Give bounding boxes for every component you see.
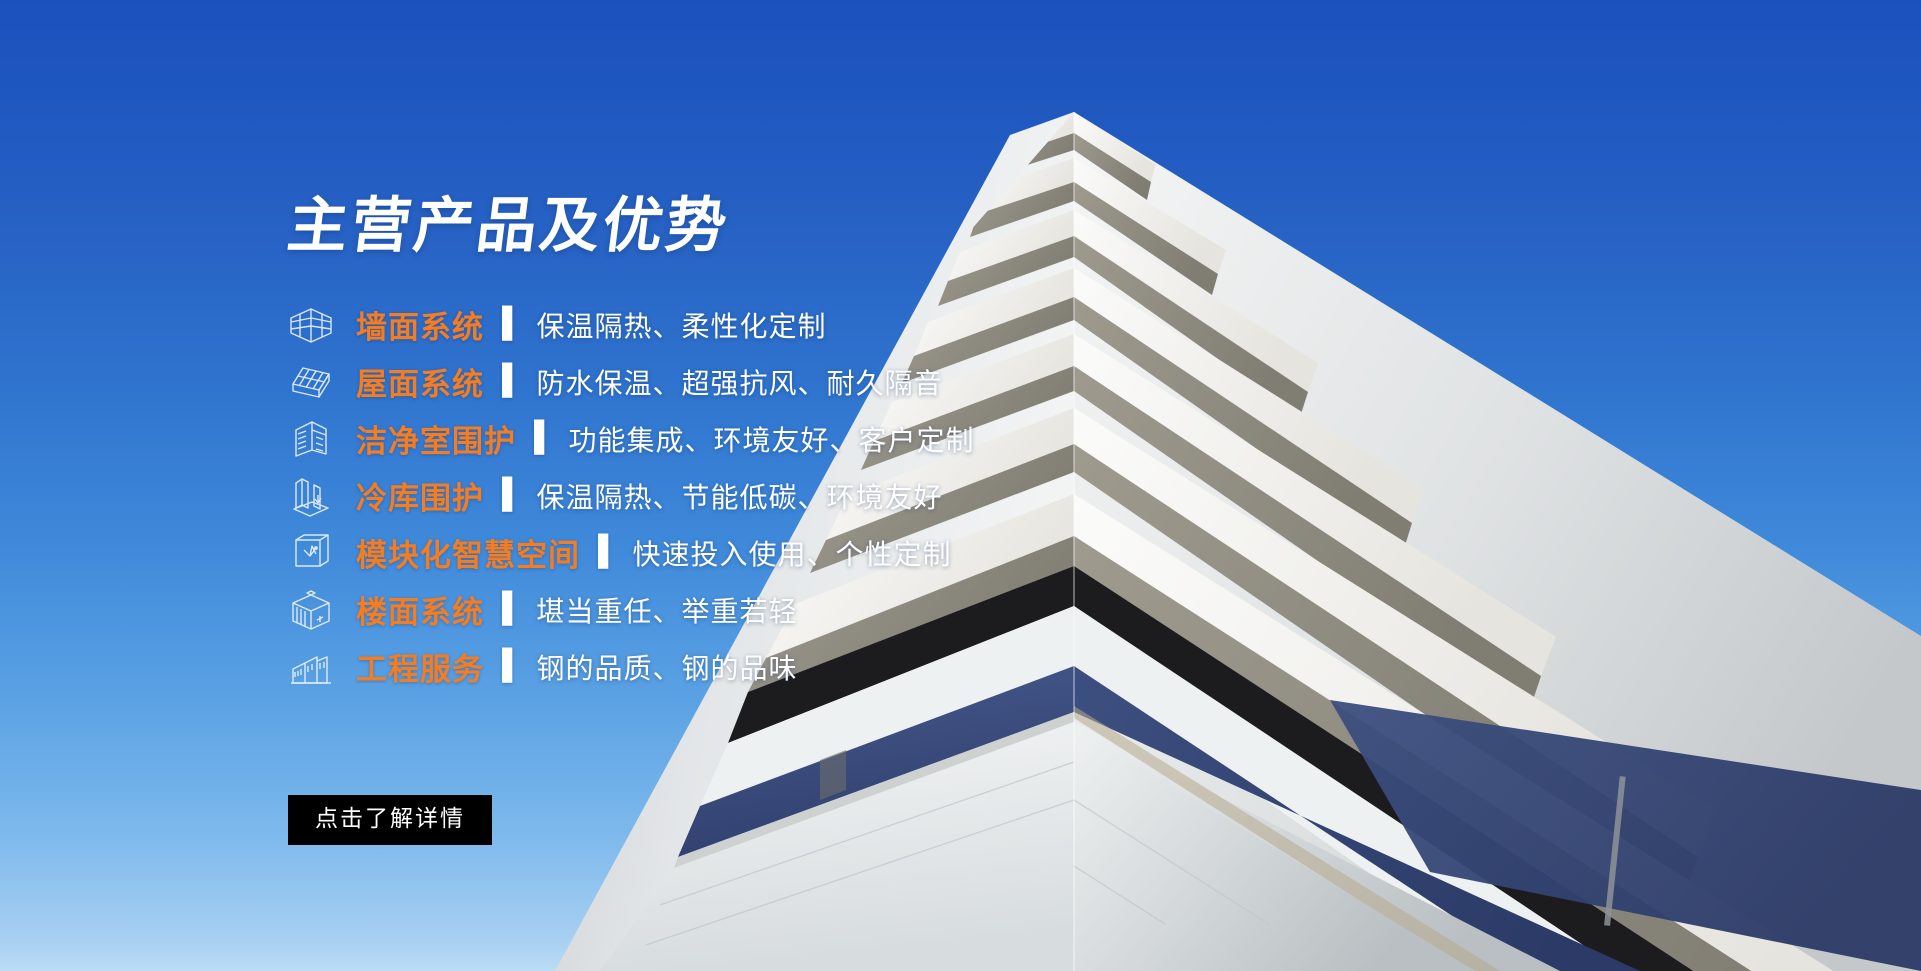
feature-separator: ▌ xyxy=(598,535,619,568)
feature-title: 洁净室围护 xyxy=(356,416,516,461)
feature-row-wall-system[interactable]: 墙面系统 ▌ 保温隔热、柔性化定制 xyxy=(288,296,1488,353)
wall-panel-icon xyxy=(288,302,334,348)
learn-more-button[interactable]: 点击了解详情 xyxy=(288,795,492,845)
feature-description: 堪当重任、举重若轻 xyxy=(537,590,798,630)
feature-row-cold-storage-envelope[interactable]: 冷库围护 ▌ 保温隔热、节能低碳、环境友好 xyxy=(288,467,1488,524)
feature-title: 楼面系统 xyxy=(356,587,484,632)
modular-cube-icon xyxy=(288,530,334,576)
feature-separator: ▌ xyxy=(502,649,523,682)
feature-separator: ▌ xyxy=(502,478,523,511)
feature-title: 模块化智慧空间 xyxy=(356,530,580,575)
cleanroom-building-icon xyxy=(288,416,334,462)
cold-storage-icon xyxy=(288,473,334,519)
feature-row-engineering-service[interactable]: 工程服务 ▌ 钢的品质、钢的品味 xyxy=(288,638,1488,695)
page-title: 主营产品及优势 xyxy=(284,196,732,256)
feature-separator: ▌ xyxy=(534,421,555,454)
roof-panel-icon xyxy=(288,359,334,405)
floor-deck-icon xyxy=(288,587,334,633)
feature-row-cleanroom-envelope[interactable]: 洁净室围护 ▌ 功能集成、环境友好、客户定制 xyxy=(288,410,1488,467)
feature-description: 保温隔热、节能低碳、环境友好 xyxy=(537,476,943,516)
feature-separator: ▌ xyxy=(502,592,523,625)
feature-title: 冷库围护 xyxy=(356,473,484,518)
feature-description: 防水保温、超强抗风、耐久隔音 xyxy=(537,362,943,402)
hero-banner: 主营产品及优势 墙面系统 ▌ 保温隔热、柔性化定制 xyxy=(0,0,1921,971)
feature-title: 屋面系统 xyxy=(356,359,484,404)
feature-row-roof-system[interactable]: 屋面系统 ▌ 防水保温、超强抗风、耐久隔音 xyxy=(288,353,1488,410)
feature-list: 墙面系统 ▌ 保温隔热、柔性化定制 屋面系统 xyxy=(288,296,1488,695)
feature-row-modular-smart-space[interactable]: 模块化智慧空间 ▌ 快速投入使用、个性定制 xyxy=(288,524,1488,581)
feature-title: 墙面系统 xyxy=(356,302,484,347)
feature-separator: ▌ xyxy=(502,307,523,340)
feature-title: 工程服务 xyxy=(356,644,484,689)
feature-description: 功能集成、环境友好、客户定制 xyxy=(569,419,975,459)
feature-description: 保温隔热、柔性化定制 xyxy=(537,305,827,345)
feature-separator: ▌ xyxy=(502,364,523,397)
feature-description: 钢的品质、钢的品味 xyxy=(537,647,798,687)
feature-description: 快速投入使用、个性定制 xyxy=(633,533,952,573)
engineering-service-icon xyxy=(288,644,334,690)
feature-row-floor-system[interactable]: 楼面系统 ▌ 堪当重任、举重若轻 xyxy=(288,581,1488,638)
